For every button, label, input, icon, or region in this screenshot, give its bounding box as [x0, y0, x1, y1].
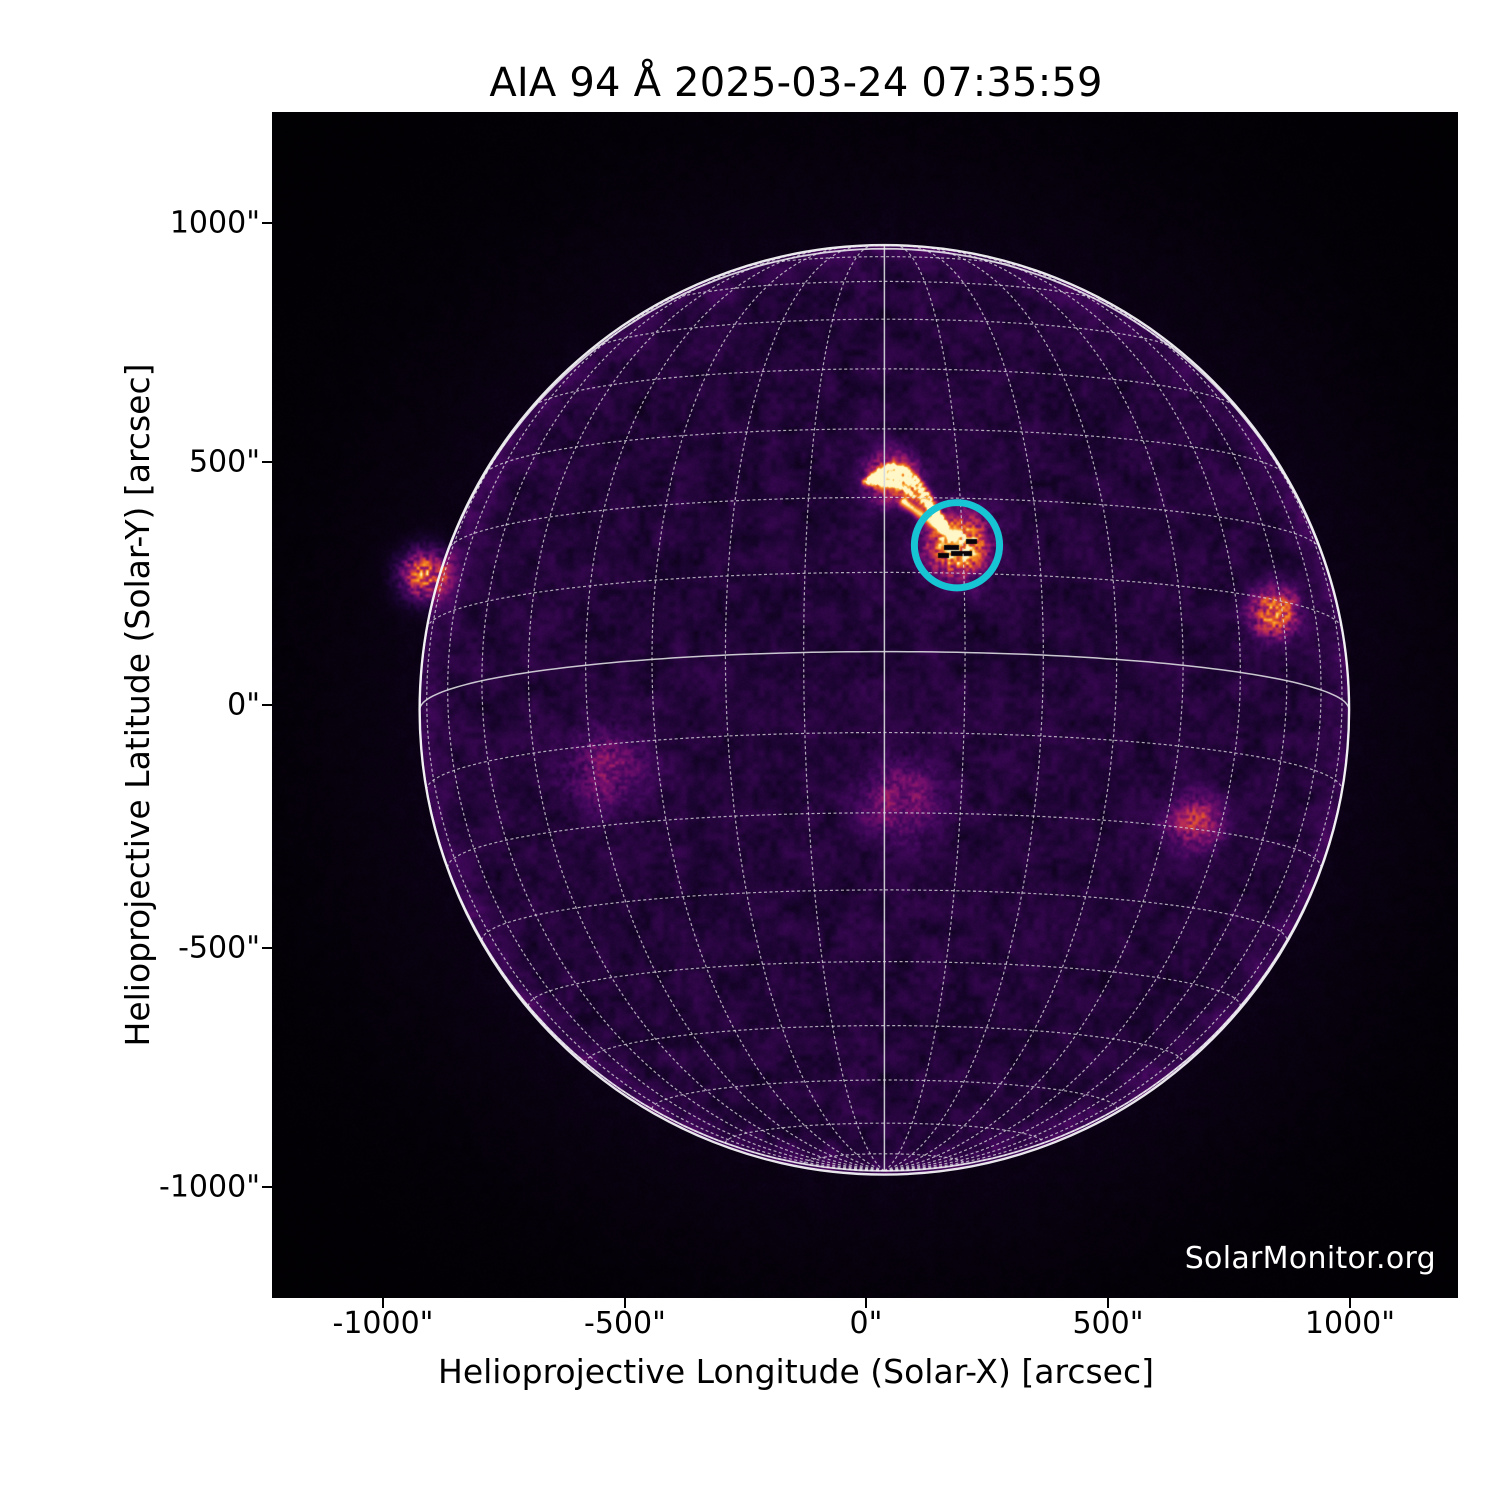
y-tick-mark: [262, 947, 272, 949]
y-tick-label-1000: 1000": [170, 206, 260, 241]
x-tick-mark: [1107, 1298, 1109, 1308]
x-tick-mark: [1349, 1298, 1351, 1308]
y-axis-label: Helioprojective Latitude (Solar-Y) [arcs…: [118, 112, 157, 1298]
x-tick-mark: [382, 1298, 384, 1308]
y-tick-mark: [262, 1186, 272, 1188]
figure-title: AIA 94 Å 2025-03-24 07:35:59: [0, 60, 1500, 106]
y-tick-mark: [262, 704, 272, 706]
y-tick-mark: [262, 222, 272, 224]
x-tick-label-m1000: -1000": [333, 1306, 434, 1341]
active-region-marker-overlay: [272, 112, 1458, 1298]
x-tick-label-m500: -500": [584, 1306, 666, 1341]
y-tick-label-m500: -500": [178, 931, 260, 966]
y-tick-label-0: 0": [227, 688, 260, 723]
y-tick-mark: [262, 461, 272, 463]
active-region-marker: [914, 503, 999, 588]
solar-disk-image: SolarMonitor.org: [272, 112, 1458, 1298]
solar-image-figure: AIA 94 Å 2025-03-24 07:35:59 1000" 500" …: [0, 0, 1500, 1500]
x-tick-mark: [624, 1298, 626, 1308]
y-tick-label-m1000: -1000": [159, 1170, 260, 1205]
x-tick-label-1000: 1000": [1305, 1306, 1395, 1341]
x-tick-mark: [865, 1298, 867, 1308]
x-tick-label-0: 0": [850, 1306, 883, 1341]
x-tick-label-500: 500": [1072, 1306, 1143, 1341]
x-axis-label: Helioprojective Longitude (Solar-X) [arc…: [0, 1352, 1500, 1391]
y-tick-label-500: 500": [189, 445, 260, 480]
watermark-solarmonitor: SolarMonitor.org: [1185, 1241, 1436, 1276]
